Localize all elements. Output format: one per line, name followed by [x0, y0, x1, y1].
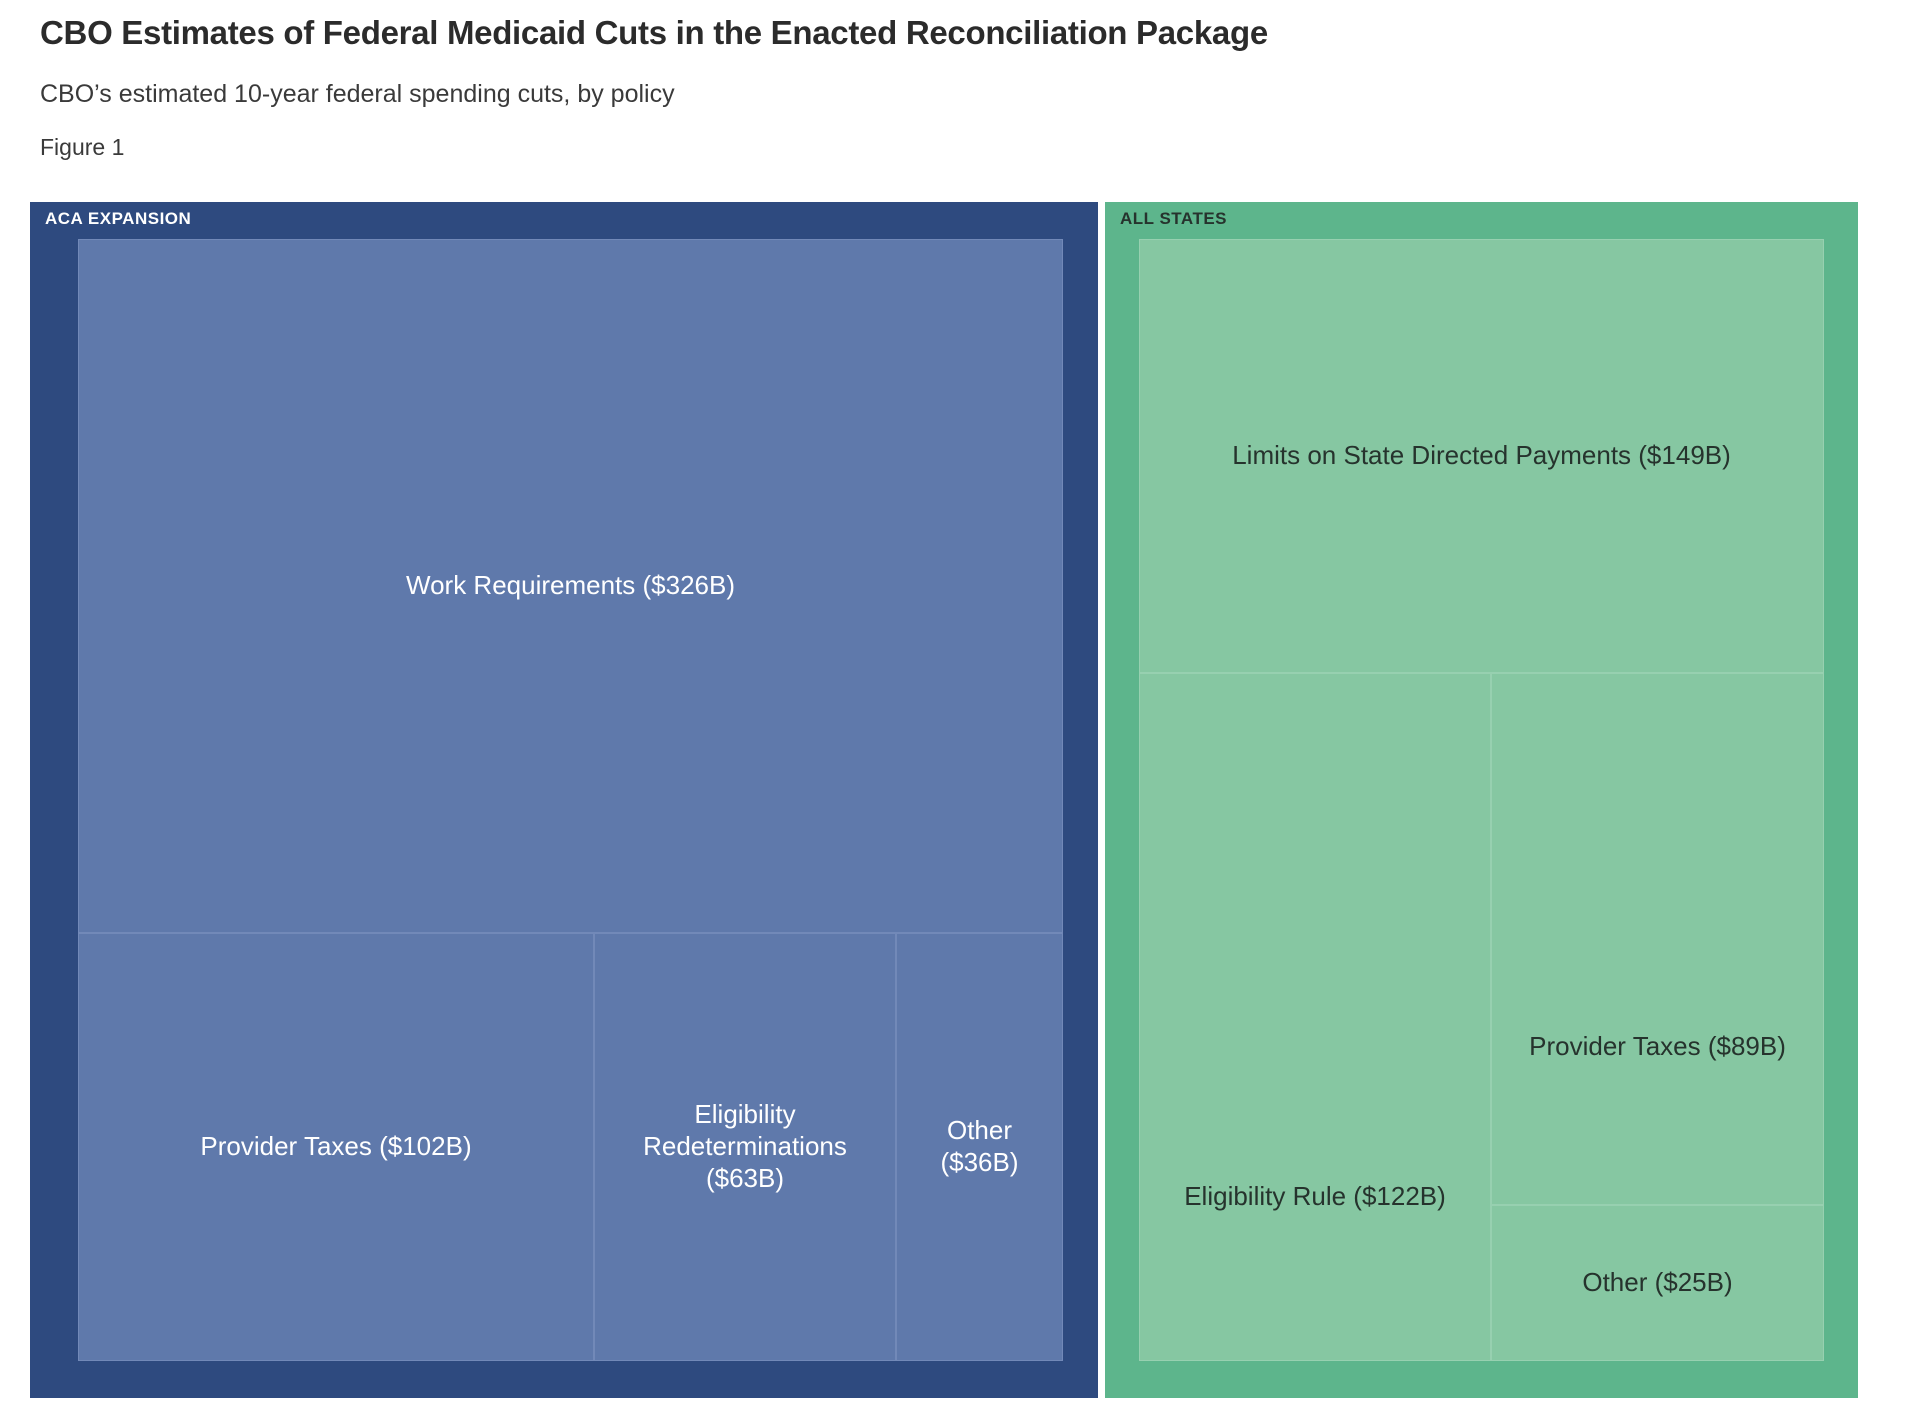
treemap-tile-limits-state-directed-payments[interactable]: Limits on State Directed Payments ($149B… — [1139, 239, 1824, 673]
treemap-tile-label: Other ($36B) — [907, 1115, 1052, 1178]
treemap-tile-aca-provider-taxes[interactable]: Provider Taxes ($102B) — [78, 933, 594, 1361]
treemap-tiles-aca-expansion: Work Requirements ($326B) Provider Taxes… — [30, 202, 1098, 1398]
page-title: CBO Estimates of Federal Medicaid Cuts i… — [40, 0, 1880, 53]
treemap-tile-label: Provider Taxes ($102B) — [200, 1131, 471, 1163]
treemap-tile-work-requirements[interactable]: Work Requirements ($326B) — [78, 239, 1063, 933]
treemap-tile-all-provider-taxes[interactable]: Provider Taxes ($89B) — [1491, 673, 1824, 1205]
treemap-tile-eligibility-redeterminations[interactable]: Eligibility Redeterminations ($63B) — [594, 933, 896, 1361]
treemap-tile-aca-other[interactable]: Other ($36B) — [896, 933, 1063, 1361]
treemap-tile-label: Eligibility Rule ($122B) — [1184, 1181, 1446, 1213]
treemap-tile-label: Eligibility Redeterminations ($63B) — [605, 1099, 885, 1194]
treemap-group-all-states: ALL STATES Limits on State Directed Paym… — [1105, 202, 1858, 1398]
treemap-tile-label: Provider Taxes ($89B) — [1529, 1031, 1786, 1063]
figure-header: CBO Estimates of Federal Medicaid Cuts i… — [40, 0, 1880, 162]
treemap-tile-all-other[interactable]: Other ($25B) — [1491, 1205, 1824, 1361]
treemap-tile-eligibility-rule[interactable]: Eligibility Rule ($122B) — [1139, 673, 1491, 1361]
figure-number-label: Figure 1 — [40, 109, 1880, 162]
figure-page: CBO Estimates of Federal Medicaid Cuts i… — [0, 0, 1917, 1420]
treemap-tile-label: Work Requirements ($326B) — [406, 570, 735, 602]
treemap-tiles-all-states: Limits on State Directed Payments ($149B… — [1105, 202, 1858, 1398]
treemap-tile-label: Other ($25B) — [1582, 1267, 1732, 1299]
treemap-tile-label: Limits on State Directed Payments ($149B… — [1232, 440, 1731, 472]
treemap-chart: ACA EXPANSION Work Requirements ($326B) … — [30, 202, 1858, 1398]
chart-subtitle: CBO’s estimated 10-year federal spending… — [40, 53, 1880, 109]
treemap-group-aca-expansion: ACA EXPANSION Work Requirements ($326B) … — [30, 202, 1098, 1398]
